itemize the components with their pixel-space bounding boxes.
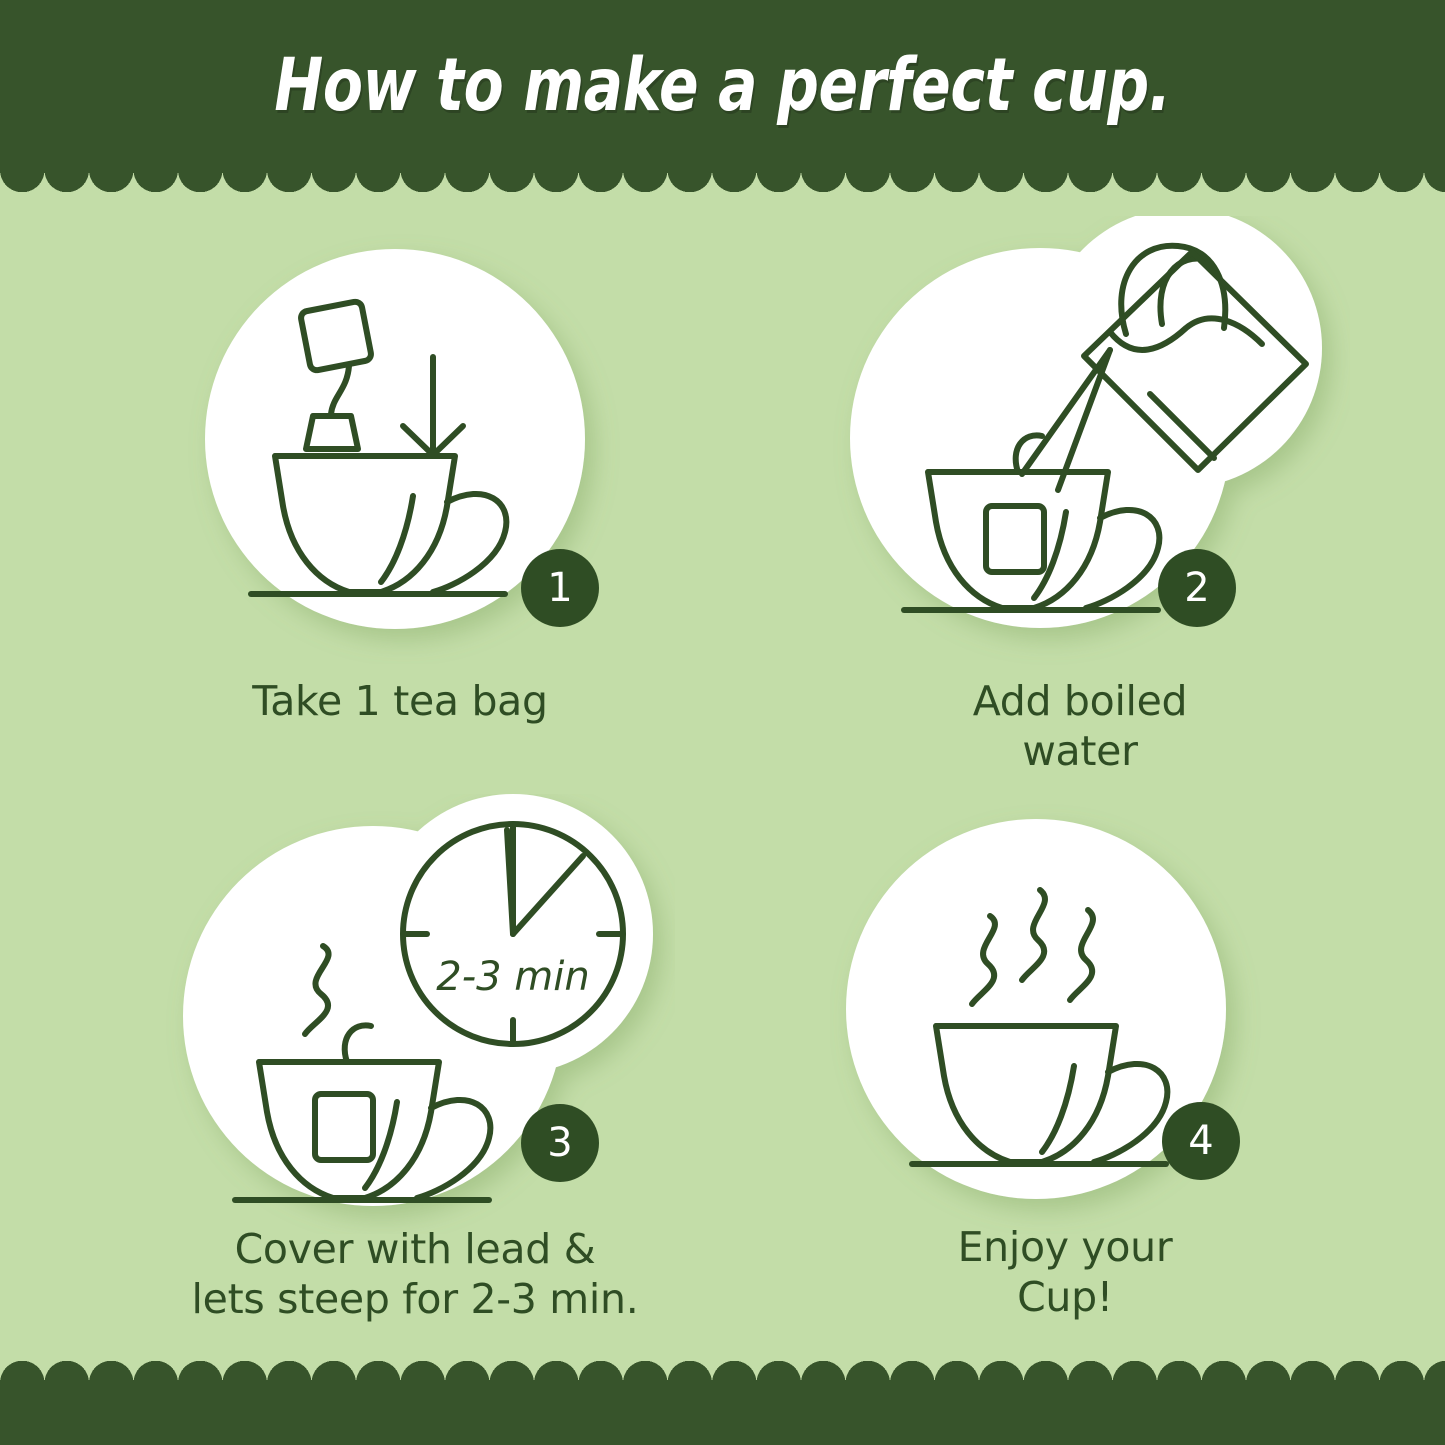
step-number-badge-2: 2: [1158, 549, 1236, 627]
step-4-artwork: [830, 804, 1300, 1234]
footer-band: [0, 1383, 1445, 1445]
steps-grid: 1 Take 1 tea bag: [0, 204, 1445, 1383]
step-card-4: 4 Enjoy your Cup!: [830, 804, 1300, 1354]
step-2-artwork: [810, 216, 1350, 646]
step-card-2: 2 Add boiled water: [810, 216, 1350, 801]
page-title: How to make a perfect cup.: [145, 0, 1301, 170]
step-caption-1: Take 1 tea bag: [155, 676, 645, 726]
step-number-badge-4: 4: [1162, 1102, 1240, 1180]
scalloped-divider-top: [0, 170, 1445, 204]
scalloped-divider-bottom: [0, 1349, 1445, 1383]
timer-label: 2-3 min: [436, 954, 589, 1000]
infographic-poster: How to make a perfect cup.: [0, 0, 1445, 1445]
timer-and-steeping-teacup-icon: 2-3 min: [155, 794, 675, 1234]
step-number-badge-1: 1: [521, 549, 599, 627]
step-number-badge-3: 3: [521, 1104, 599, 1182]
step-card-1: 1 Take 1 tea bag: [155, 234, 645, 784]
kettle-pouring-into-teacup-icon: [810, 216, 1350, 676]
step-caption-3: Cover with lead & lets steep for 2-3 min…: [155, 1224, 675, 1324]
step-3-artwork: 2-3 min: [155, 794, 675, 1224]
step-card-3: 2-3 min: [155, 794, 675, 1354]
step-caption-2: Add boiled water: [810, 676, 1350, 776]
step-caption-4: Enjoy your Cup!: [830, 1222, 1300, 1322]
steaming-teacup-icon: [830, 804, 1300, 1234]
